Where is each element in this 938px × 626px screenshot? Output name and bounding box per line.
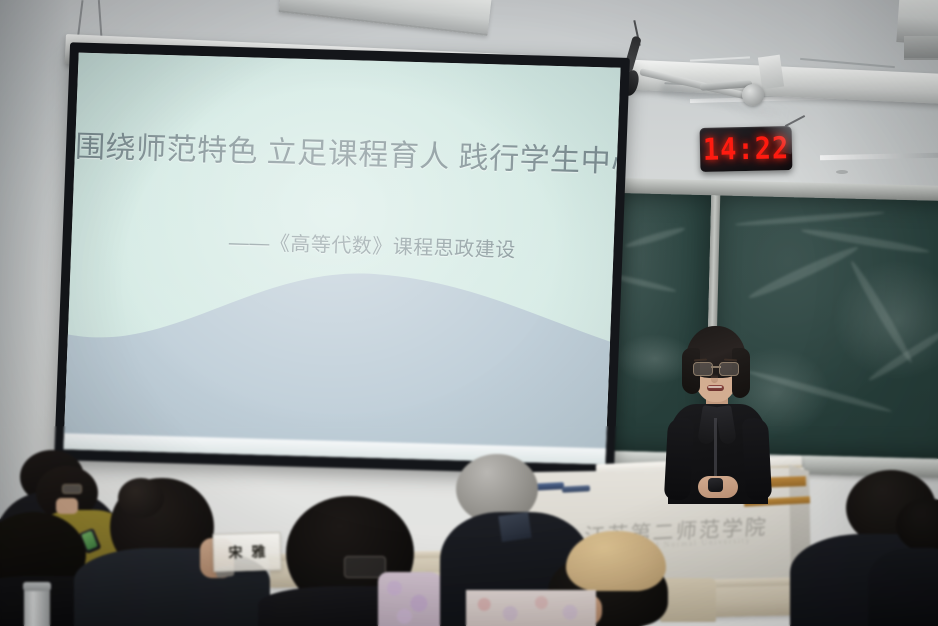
nameplate-char-1: 宋 bbox=[228, 542, 243, 562]
attendee-collar bbox=[498, 512, 531, 542]
attendee-glasses-icon bbox=[62, 484, 82, 494]
wall-mount-hinge bbox=[742, 84, 764, 106]
lecture-hall-scene: 围绕师范特色 立足课程育人 践行学生中心 ——《高等代数》课程思政建设 14:2… bbox=[0, 0, 938, 626]
presentation-clicker bbox=[708, 478, 723, 492]
presenter bbox=[662, 326, 774, 502]
wall-mount-plate bbox=[758, 55, 784, 90]
attendee-hand bbox=[56, 498, 78, 514]
chalk-smudge bbox=[848, 259, 916, 365]
presenter-arm bbox=[742, 417, 772, 500]
attendee-torso bbox=[868, 548, 938, 626]
attendee-lavender-garment bbox=[378, 572, 444, 626]
nameplate-char-2: 雅 bbox=[251, 541, 266, 561]
chalk-smudge bbox=[747, 243, 860, 302]
slide-wave-graphic bbox=[63, 242, 620, 464]
desk-nameplate: 宋 雅 bbox=[212, 532, 281, 572]
digital-wall-clock: 14:22 bbox=[700, 126, 793, 172]
chalk-smudge bbox=[735, 210, 885, 228]
glasses-icon bbox=[693, 362, 739, 374]
chalk-smudge bbox=[867, 325, 938, 383]
presenter-arm bbox=[664, 417, 694, 500]
glasses-lens bbox=[693, 362, 713, 376]
chalk-smudge bbox=[800, 226, 930, 255]
thermos-flask bbox=[24, 588, 50, 626]
beret-hat bbox=[566, 531, 666, 591]
student-chair bbox=[660, 578, 716, 622]
projection-screen: 围绕师范特色 立足课程育人 践行学生中心 ——《高等代数》课程思政建设 bbox=[54, 42, 630, 475]
attendee-hair-bun bbox=[118, 478, 164, 518]
presentation-slide: 围绕师范特色 立足课程育人 践行学生中心 ——《高等代数》课程思政建设 bbox=[63, 53, 620, 465]
projection-surface: 围绕师范特色 立足课程育人 践行学生中心 ——《高等代数》课程思政建设 bbox=[63, 53, 620, 465]
presenter-nose bbox=[711, 374, 718, 383]
ceiling-speaker-underside bbox=[904, 36, 938, 60]
chalk-smudge bbox=[625, 225, 686, 249]
wall-blemish bbox=[836, 170, 848, 174]
glasses-lens bbox=[719, 362, 739, 376]
thermos-cap bbox=[23, 582, 51, 591]
slide-title: 围绕师范特色 立足课程育人 践行学生中心 bbox=[74, 122, 618, 181]
attendee-floral-garment bbox=[466, 590, 596, 626]
